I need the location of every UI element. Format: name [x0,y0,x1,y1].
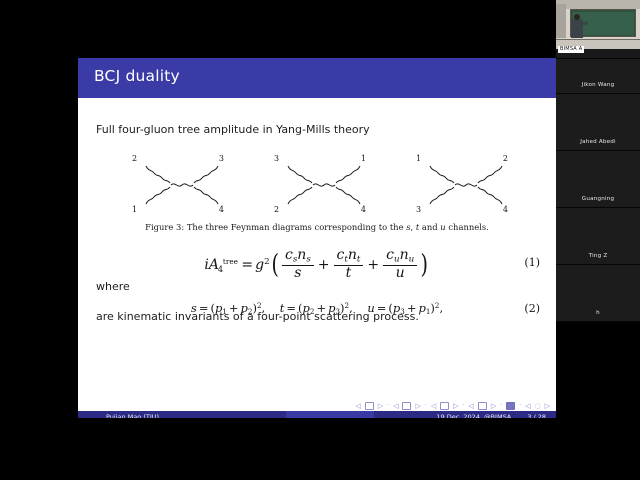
eq2-trailing-comma: , [439,301,443,315]
nav-forward-slide-icon[interactable]: ▷ [378,403,383,410]
shared-screen-area: BCJ duality Full four-gluon tree amplitu… [0,0,556,480]
figure-caption-end: channels. [446,222,489,232]
nav-divider-2: · [425,403,427,409]
eq1-close-paren: ) [421,253,428,277]
diagram-label: 2 [132,155,137,163]
eq1-t2-n-sub: t [357,254,361,264]
participant-name: Guangning [556,196,640,202]
feynman-diagram-u-channel: 1 2 3 4 [414,154,510,216]
eq1-t3-c: c [386,247,394,263]
nav-subsection-icon[interactable] [440,402,449,410]
nav-back-subsection-icon[interactable]: ◁ [431,403,436,410]
equation-1-block: iA4tree=g2(csnss+ctntt+cunuu) (1) [78,248,556,282]
participant-tile-3[interactable]: Ting Z [556,208,640,265]
eq1-g-exponent: 2 [264,257,270,267]
eq1-amplitude: A4tree [209,257,239,273]
participant-tile-active-video[interactable]: BIMSA A [556,0,640,59]
eq2-p6: p [418,301,425,315]
nav-back-slide-icon[interactable]: ◁ [355,403,360,410]
nav-search-icon[interactable]: ◌ [535,403,541,410]
figure-caption-and: and [419,222,440,232]
participant-name: Jikon Wang [556,82,640,88]
diagram-label: 4 [219,206,224,214]
eq1-plus-2: + [365,257,381,273]
room-badge: BIMSA A [558,46,584,53]
presentation-slide: BCJ duality Full four-gluon tree amplitu… [78,58,556,418]
eq1-term-3-numerator: cunu [383,248,417,265]
slide-title-bar: BCJ duality [78,58,556,98]
nav-divider-5: · [519,403,521,409]
participant-rail: BIMSA A Jikon Wang Jahed Abedi Guangning… [556,0,640,480]
slide-body: Full four-gluon tree amplitude in Yang-M… [78,98,556,401]
equation-1-number: (1) [524,256,540,269]
diagram-label: 2 [274,206,279,214]
slide-title: BCJ duality [94,67,180,85]
t-channel-graph-icon [272,154,368,216]
nav-frame-icon[interactable] [402,402,411,410]
participant-tile-0[interactable]: Jikon Wang [556,59,640,94]
diagram-label: 1 [361,155,366,163]
u-channel-graph-icon [414,154,510,216]
eq1-g: g [255,257,264,273]
equation-1: iA4tree=g2(csnss+ctntt+cunuu) [78,248,556,282]
eq1-open-paren: ( [271,253,278,277]
footer-middle-spacer [286,411,374,418]
eq1-term-1: csnss [282,248,314,282]
footer-date-venue: 19 Dec. 2024, @BIMSA [436,413,511,419]
diagram-label: 4 [503,206,508,214]
eq1-term-1-numerator: csns [282,248,314,265]
nav-back-section-icon[interactable]: ◁ [468,403,473,410]
nav-section-icon[interactable] [478,402,487,410]
diagram-label: 3 [219,155,224,163]
eq1-term-3-denominator: u [383,265,417,282]
nav-back-frame-icon[interactable]: ◁ [393,403,398,410]
s-channel-graph-icon [130,154,226,216]
where-label: where [96,280,130,293]
participant-tile-1[interactable]: Jahed Abedi [556,94,640,151]
diagram-label: 1 [132,206,137,214]
footer-page-number: 3 / 28 [527,413,546,419]
participant-tile-2[interactable]: Guangning [556,151,640,208]
eq1-t2-n: n [348,247,357,263]
diagram-label: 2 [503,155,508,163]
eq1-t1-c: c [285,247,293,263]
eq2-p6-sub: 1 [426,307,431,316]
slide-lead-text: Full four-gluon tree amplitude in Yang-M… [96,123,370,136]
figure-caption-prefix: Figure 3: [145,222,184,232]
nav-forward-frame-icon[interactable]: ▷ [415,403,420,410]
figure-caption: Figure 3: The three Feynman diagrams cor… [78,222,556,232]
feynman-diagram-s-channel: 2 3 1 4 [130,154,226,216]
footer-author: Pujian Mao (TJU) [78,411,286,418]
nav-forward-search-icon[interactable]: ▷ [545,403,550,410]
nav-divider-4: · [500,403,502,409]
diagram-label: 3 [274,155,279,163]
nav-divider-3: · [463,403,465,409]
nav-doc-icon[interactable] [506,402,515,410]
slide-closing-text: are kinematic invariants of a four-point… [96,310,419,323]
participant-name: Jahed Abedi [556,139,640,145]
nav-slide-icon[interactable] [365,402,374,410]
eq1-t1-n: n [297,247,306,263]
feynman-diagram-row: 2 3 1 4 [130,154,510,216]
diagram-label: 4 [361,206,366,214]
beamer-navigation-bar[interactable]: ◁ ▷ · ◁ ▷ · ◁ ▷ · ◁ ▷ · · [78,401,556,411]
eq1-equals: = [239,257,255,273]
participant-tile-4[interactable]: h [556,265,640,322]
diagram-label: 3 [416,206,421,214]
eq1-plus-1: + [316,257,332,273]
eq1-term-2-denominator: t [334,265,364,282]
eq1-t1-n-sub: s [306,254,310,264]
diagram-label: 1 [416,155,421,163]
eq1-A-sup: tree [223,257,238,266]
eq1-term-1-denominator: s [282,265,314,282]
nav-forward-section-icon[interactable]: ▷ [491,403,496,410]
eq1-term-2: ctntt [334,248,364,282]
nav-divider-1: · [387,403,389,409]
nav-back-search-icon[interactable]: ◁ [525,403,530,410]
feynman-diagram-t-channel: 3 1 2 4 [272,154,368,216]
participant-name: h [556,310,640,316]
eq1-term-3: cunuu [383,248,417,282]
figure-caption-text1: The three Feynman diagrams corresponding… [184,222,406,232]
eq1-term-2-numerator: ctnt [334,248,364,265]
equation-2-number: (2) [524,302,540,315]
nav-forward-subsection-icon[interactable]: ▷ [453,403,458,410]
meeting-window: BCJ duality Full four-gluon tree amplitu… [0,0,640,480]
participant-name: Ting Z [556,253,640,259]
footer-right: 19 Dec. 2024, @BIMSA 3 / 28 [374,411,556,418]
eq1-t3-n: n [400,247,409,263]
slide-footer: Pujian Mao (TJU) 19 Dec. 2024, @BIMSA 3 … [78,411,556,418]
eq1-t3-n-sub: u [409,254,415,264]
